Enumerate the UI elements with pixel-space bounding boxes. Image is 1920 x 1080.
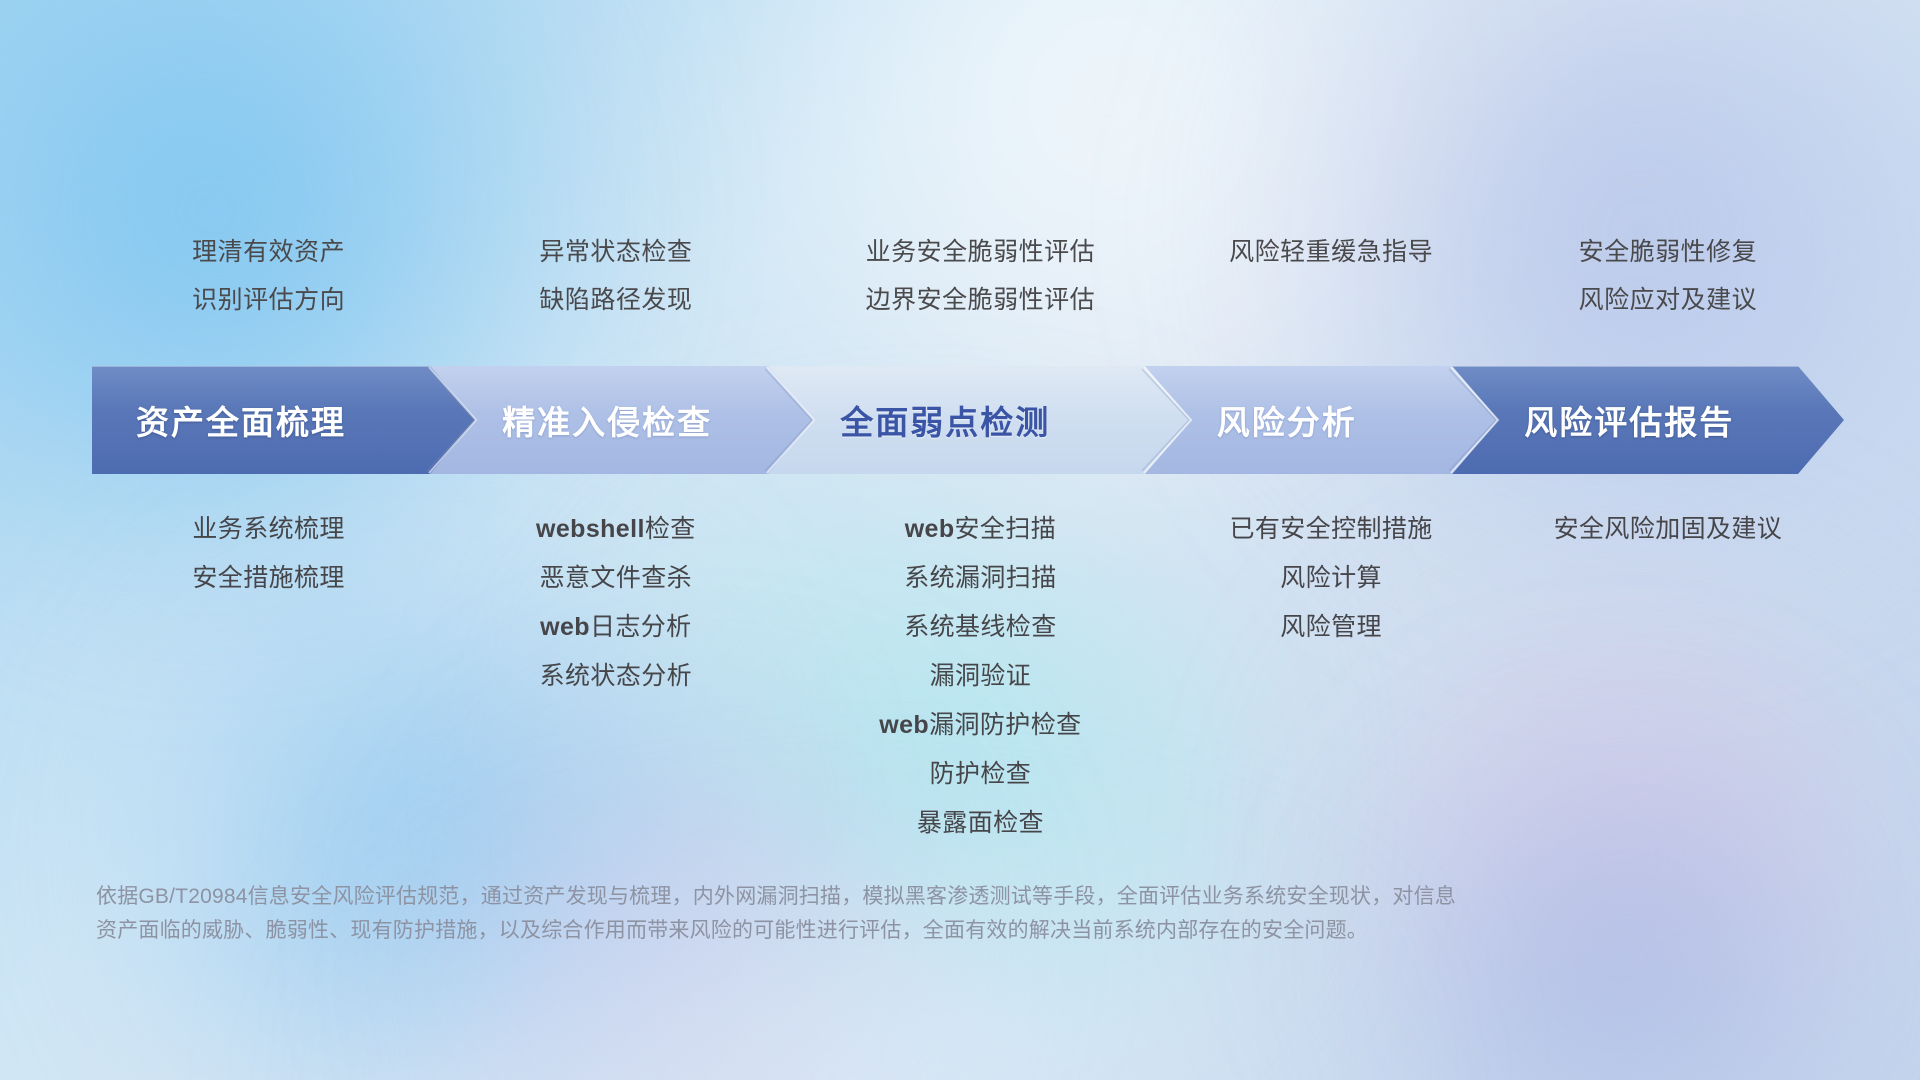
top-labels-weakness-detection: 业务安全脆弱性评估边界安全脆弱性评估 bbox=[789, 228, 1171, 324]
top-labels-intrusion-check: 异常状态检查缺陷路径发现 bbox=[442, 228, 789, 324]
bottom-label: 风险管理 bbox=[1171, 603, 1490, 652]
stage-arrow-label: 精准入侵检查 bbox=[430, 396, 712, 444]
stage-arrow-risk-analysis[interactable]: 风险分析 bbox=[1145, 366, 1498, 474]
bottom-label-prefix: web bbox=[905, 515, 955, 543]
bottom-label: 防护检查 bbox=[789, 750, 1171, 799]
footer-line-1: 依据GB/T20984信息安全风险评估规范，通过资产发现与梳理，内外网漏洞扫描，… bbox=[96, 880, 1616, 914]
bottom-label-text: 检查 bbox=[645, 515, 696, 543]
bottom-label-prefix: web bbox=[879, 711, 929, 739]
bottom-label: web安全扫描 bbox=[789, 505, 1171, 554]
bottom-label-text: 日志分析 bbox=[590, 613, 692, 641]
footer-line-2: 资产面临的威胁、脆弱性、现有防护措施，以及综合作用而带来风险的可能性进行评估，全… bbox=[96, 914, 1616, 948]
bottom-label: 系统基线检查 bbox=[789, 603, 1171, 652]
stage-arrow-label: 全面弱点检测 bbox=[768, 396, 1050, 444]
top-label: 边界安全脆弱性评估 bbox=[789, 276, 1171, 324]
top-label: 识别评估方向 bbox=[95, 276, 442, 324]
footer-description: 依据GB/T20984信息安全风险评估规范，通过资产发现与梳理，内外网漏洞扫描，… bbox=[96, 880, 1616, 948]
stage-arrow-band: 资产全面梳理精准入侵检查全面弱点检测风险分析风险评估报告 bbox=[92, 366, 1844, 474]
bottom-label: webshell检查 bbox=[442, 505, 789, 554]
bottom-label: 漏洞验证 bbox=[789, 652, 1171, 701]
bottom-label: 系统漏洞扫描 bbox=[789, 554, 1171, 603]
bottom-labels-weakness-detection: web安全扫描系统漏洞扫描系统基线检查漏洞验证web漏洞防护检查防护检查暴露面检… bbox=[789, 505, 1171, 848]
stage-arrow-assessment-report[interactable]: 风险评估报告 bbox=[1452, 366, 1844, 474]
stage-arrow-weakness-detection[interactable]: 全面弱点检测 bbox=[768, 366, 1191, 474]
stage-arrow-label: 风险分析 bbox=[1145, 396, 1357, 444]
bottom-label: 暴露面检查 bbox=[789, 799, 1171, 848]
process-diagram: 理清有效资产识别评估方向异常状态检查缺陷路径发现业务安全脆弱性评估边界安全脆弱性… bbox=[0, 0, 1920, 1080]
bottom-label: 风险计算 bbox=[1171, 554, 1490, 603]
top-labels-assessment-report: 安全脆弱性修复风险应对及建议 bbox=[1491, 228, 1845, 324]
bottom-label: 业务系统梳理 bbox=[95, 505, 442, 554]
top-label: 安全脆弱性修复 bbox=[1491, 228, 1845, 276]
top-label-row: 理清有效资产识别评估方向异常状态检查缺陷路径发现业务安全脆弱性评估边界安全脆弱性… bbox=[95, 228, 1845, 324]
top-label: 缺陷路径发现 bbox=[442, 276, 789, 324]
bottom-labels-intrusion-check: webshell检查恶意文件查杀web日志分析系统状态分析 bbox=[442, 505, 789, 701]
bottom-label: 系统状态分析 bbox=[442, 652, 789, 701]
bottom-label-text: 漏洞防护检查 bbox=[929, 711, 1081, 739]
bottom-label-prefix: web bbox=[540, 613, 590, 641]
top-label: 业务安全脆弱性评估 bbox=[789, 228, 1171, 276]
top-labels-risk-analysis: 风险轻重缓急指导 bbox=[1171, 228, 1490, 276]
bottom-labels-assessment-report: 安全风险加固及建议 bbox=[1491, 505, 1845, 554]
bottom-label: 安全风险加固及建议 bbox=[1491, 505, 1845, 554]
bottom-labels-asset-inventory: 业务系统梳理安全措施梳理 bbox=[95, 505, 442, 603]
top-label: 理清有效资产 bbox=[95, 228, 442, 276]
bottom-label: 已有安全控制措施 bbox=[1171, 505, 1490, 554]
stage-arrow-asset-inventory[interactable]: 资产全面梳理 bbox=[92, 366, 476, 474]
bottom-label: web漏洞防护检查 bbox=[789, 701, 1171, 750]
bottom-label-text: 安全扫描 bbox=[955, 515, 1057, 543]
bottom-label: 安全措施梳理 bbox=[95, 554, 442, 603]
bottom-label-row: 业务系统梳理安全措施梳理webshell检查恶意文件查杀web日志分析系统状态分… bbox=[95, 505, 1845, 848]
bottom-label: web日志分析 bbox=[442, 603, 789, 652]
bottom-labels-risk-analysis: 已有安全控制措施风险计算风险管理 bbox=[1171, 505, 1490, 652]
top-label: 异常状态检查 bbox=[442, 228, 789, 276]
bottom-label-prefix: webshell bbox=[536, 515, 645, 543]
top-label: 风险轻重缓急指导 bbox=[1171, 228, 1490, 276]
stage-arrow-label: 风险评估报告 bbox=[1452, 396, 1734, 444]
stage-arrow-label: 资产全面梳理 bbox=[92, 396, 346, 444]
top-label: 风险应对及建议 bbox=[1491, 276, 1845, 324]
stage-arrow-intrusion-check[interactable]: 精准入侵检查 bbox=[430, 366, 814, 474]
top-labels-asset-inventory: 理清有效资产识别评估方向 bbox=[95, 228, 442, 324]
bottom-label: 恶意文件查杀 bbox=[442, 554, 789, 603]
